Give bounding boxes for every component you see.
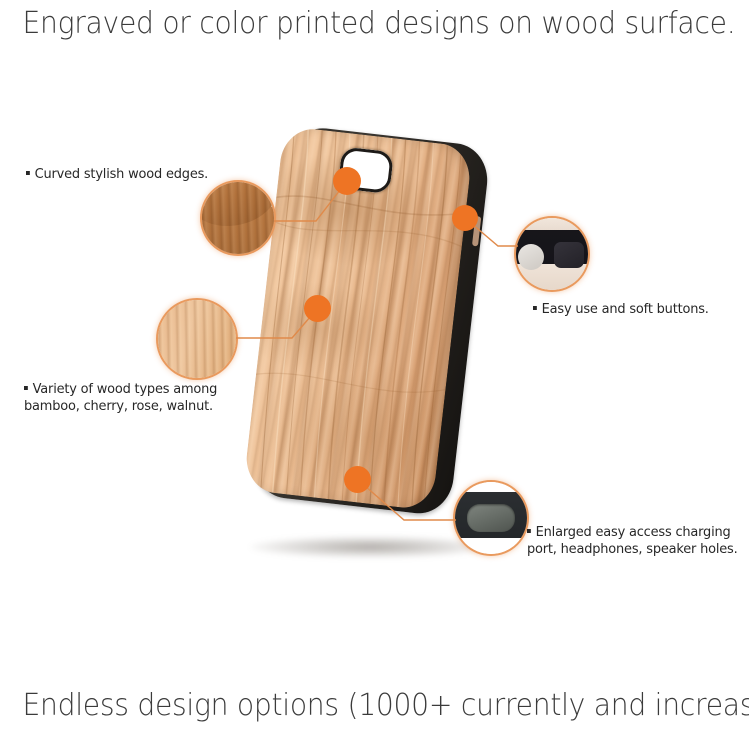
wooden-phone-case — [241, 122, 504, 534]
callout-label-wood: Variety of wood types among bamboo, cher… — [24, 381, 245, 415]
callout-label-buttons: Easy use and soft buttons. — [533, 301, 709, 318]
headline-top: Engraved or color printed designs on woo… — [22, 6, 726, 41]
bullet-icon — [527, 529, 531, 533]
callout-label-ports: Enlarged easy access charging port, head… — [527, 524, 743, 558]
callout-label-edges: Curved stylish wood edges. — [26, 166, 208, 183]
hotspot-dot-buttons[interactable] — [452, 205, 478, 231]
bullet-icon — [26, 171, 30, 175]
bullet-icon — [533, 306, 537, 310]
infographic-page: Engraved or color printed designs on woo… — [0, 0, 749, 731]
headline-bottom: Endless design options (1000+ currently … — [22, 688, 726, 723]
charging-port-slot — [467, 504, 515, 532]
callout-buttons-text: Easy use and soft buttons. — [542, 301, 709, 317]
closeup-charging-port — [455, 482, 527, 554]
callout-ports-text: Enlarged easy access charging port, head… — [527, 524, 738, 557]
hotspot-dot-wood[interactable] — [304, 295, 331, 322]
closeup-curved-wood-edge — [202, 182, 274, 254]
callout-edges-text: Curved stylish wood edges. — [35, 166, 208, 182]
phone-drop-shadow — [250, 536, 490, 558]
edge-grain-overlay — [202, 182, 274, 254]
bullet-icon — [24, 386, 28, 390]
closeup-wood-grain — [158, 300, 236, 378]
closeup-soft-buttons — [516, 218, 588, 290]
rect-button-shape — [554, 242, 584, 268]
round-button-shape — [518, 244, 544, 270]
callout-wood-text: Variety of wood types among bamboo, cher… — [24, 381, 217, 414]
hotspot-dot-edges[interactable] — [333, 167, 361, 195]
hotspot-dot-ports[interactable] — [344, 466, 371, 493]
